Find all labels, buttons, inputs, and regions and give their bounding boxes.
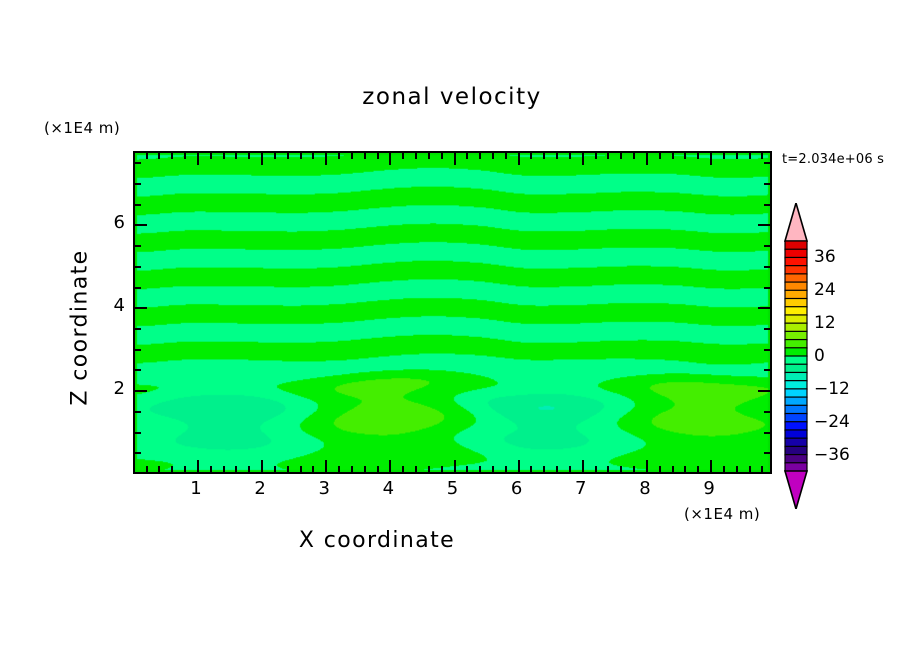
x-axis-unit-label: (×1E4 m) bbox=[684, 505, 760, 523]
colorbar-band bbox=[785, 372, 807, 381]
time-annotation: t=2.034e+06 s bbox=[782, 152, 884, 167]
axis-tick bbox=[764, 473, 770, 474]
x-axis-title: X coordinate bbox=[0, 528, 904, 553]
colorbar-band bbox=[785, 414, 807, 423]
colorbar-tick-label: 12 bbox=[814, 313, 836, 333]
x-tick-label: 4 bbox=[373, 478, 403, 499]
colorbar-over-arrow bbox=[785, 203, 807, 241]
colorbar-band bbox=[785, 405, 807, 414]
colorbar-band bbox=[785, 274, 807, 283]
colorbar-band bbox=[785, 389, 807, 398]
x-tick-label: 1 bbox=[181, 478, 211, 499]
colorbar-tick-label: −12 bbox=[814, 379, 850, 399]
colorbar-band bbox=[785, 381, 807, 390]
x-tick-label: 2 bbox=[245, 478, 275, 499]
colorbar-band bbox=[785, 249, 807, 258]
colorbar-band bbox=[785, 323, 807, 332]
x-tick-label: 5 bbox=[438, 478, 468, 499]
colorbar-band bbox=[785, 282, 807, 291]
page-title: zonal velocity bbox=[0, 84, 904, 110]
colorbar-band bbox=[785, 348, 807, 357]
chart-canvas: zonal velocity (×1E4 m) (×1E4 m) X coord… bbox=[0, 0, 904, 654]
x-tick-label: 8 bbox=[630, 478, 660, 499]
y-axis-unit-label: (×1E4 m) bbox=[44, 119, 120, 137]
colorbar-band bbox=[785, 364, 807, 373]
colorbar-graphic bbox=[783, 203, 809, 509]
plot-area bbox=[133, 151, 772, 474]
colorbar-tick-label: −24 bbox=[814, 412, 850, 432]
y-tick-label: 6 bbox=[103, 212, 125, 233]
colorbar-band bbox=[785, 266, 807, 275]
x-tick-label: 6 bbox=[502, 478, 532, 499]
colorbar-band bbox=[785, 315, 807, 324]
colorbar-band bbox=[785, 257, 807, 266]
colorbar-under-arrow bbox=[785, 471, 807, 509]
axis-tick bbox=[135, 473, 141, 474]
x-tick-label: 3 bbox=[309, 478, 339, 499]
colorbar-band bbox=[785, 463, 807, 472]
colorbar-tick-label: 36 bbox=[814, 247, 836, 267]
colorbar-band bbox=[785, 356, 807, 365]
x-tick-label: 7 bbox=[566, 478, 596, 499]
colorbar-band bbox=[785, 397, 807, 406]
y-tick-label: 4 bbox=[103, 295, 125, 316]
colorbar-band bbox=[785, 430, 807, 439]
colorbar-band bbox=[785, 438, 807, 447]
contour-field bbox=[135, 153, 770, 472]
colorbar-band bbox=[785, 299, 807, 308]
colorbar-band bbox=[785, 422, 807, 431]
colorbar-band bbox=[785, 290, 807, 299]
colorbar-band bbox=[785, 455, 807, 464]
colorbar-band bbox=[785, 331, 807, 340]
colorbar-band bbox=[785, 340, 807, 349]
colorbar-tick-label: 0 bbox=[814, 346, 825, 366]
y-axis-title: Z coordinate bbox=[68, 208, 93, 448]
colorbar-band bbox=[785, 241, 807, 250]
colorbar-tick-label: 24 bbox=[814, 280, 836, 300]
colorbar-band bbox=[785, 307, 807, 316]
colorbar bbox=[783, 203, 809, 509]
y-tick-label: 2 bbox=[103, 378, 125, 399]
x-tick-label: 9 bbox=[694, 478, 724, 499]
colorbar-tick-label: −36 bbox=[814, 445, 850, 465]
colorbar-band bbox=[785, 446, 807, 455]
